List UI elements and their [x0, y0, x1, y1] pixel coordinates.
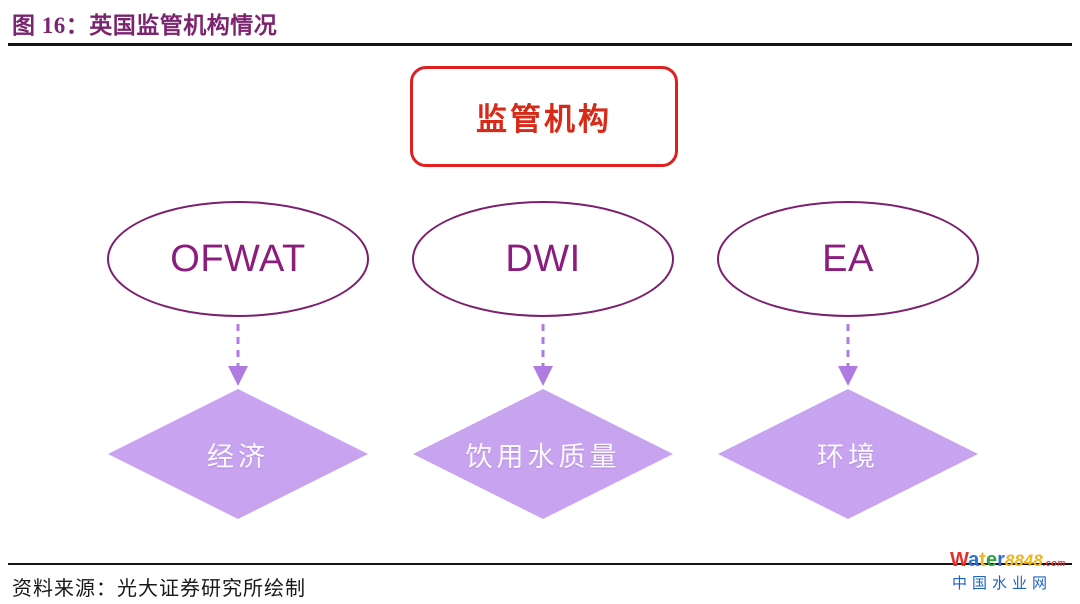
connector-arrow-ea-to-environment — [836, 324, 860, 390]
node-label: 饮用水质量 — [413, 389, 673, 519]
diagram-node-agency-dwi[interactable]: DWI — [412, 201, 674, 317]
node-label: 经济 — [108, 389, 368, 519]
diagram-node-outcome-environment[interactable]: 环境 — [718, 389, 978, 519]
watermark-letter-t: t — [979, 549, 986, 571]
footer-divider — [8, 563, 1072, 565]
node-label: 环境 — [718, 389, 978, 519]
watermark-subtitle: 中国水业网 — [952, 572, 1052, 593]
watermark-wordmark: Water8848.com — [950, 549, 1066, 574]
diagram-node-regulator-root[interactable]: 监管机构 — [410, 66, 678, 167]
watermark-letter-w: W — [950, 549, 968, 571]
watermark-letter-e: e — [986, 549, 997, 571]
connector-arrow-ofwat-to-economy — [226, 324, 250, 390]
watermark-tld: .com — [1043, 558, 1066, 568]
node-label: OFWAT — [170, 238, 305, 281]
watermark: Water8848.com 中国水业网 — [950, 549, 1074, 599]
diagram-node-agency-ea[interactable]: EA — [717, 201, 979, 317]
watermark-number: 8848 — [1005, 551, 1043, 570]
diagram-node-agency-ofwat[interactable]: OFWAT — [107, 201, 369, 317]
watermark-letter-a: a — [968, 549, 979, 571]
node-label: DWI — [505, 238, 580, 281]
source-note: 资料来源：光大证券研究所绘制 — [12, 572, 306, 601]
node-label: 监管机构 — [476, 94, 612, 139]
diagram-node-outcome-drinking-water-quality[interactable]: 饮用水质量 — [413, 389, 673, 519]
connector-arrow-dwi-to-water-quality — [531, 324, 555, 390]
diagram-node-outcome-economy[interactable]: 经济 — [108, 389, 368, 519]
page-title: 图 16：英国监管机构情况 — [12, 6, 277, 40]
node-label: EA — [822, 238, 874, 281]
watermark-letter-r: r — [997, 549, 1005, 571]
org-chart-diagram: 监管机构 OFWAT DWI EA 经济 饮用水质量 环境 — [0, 46, 1080, 551]
